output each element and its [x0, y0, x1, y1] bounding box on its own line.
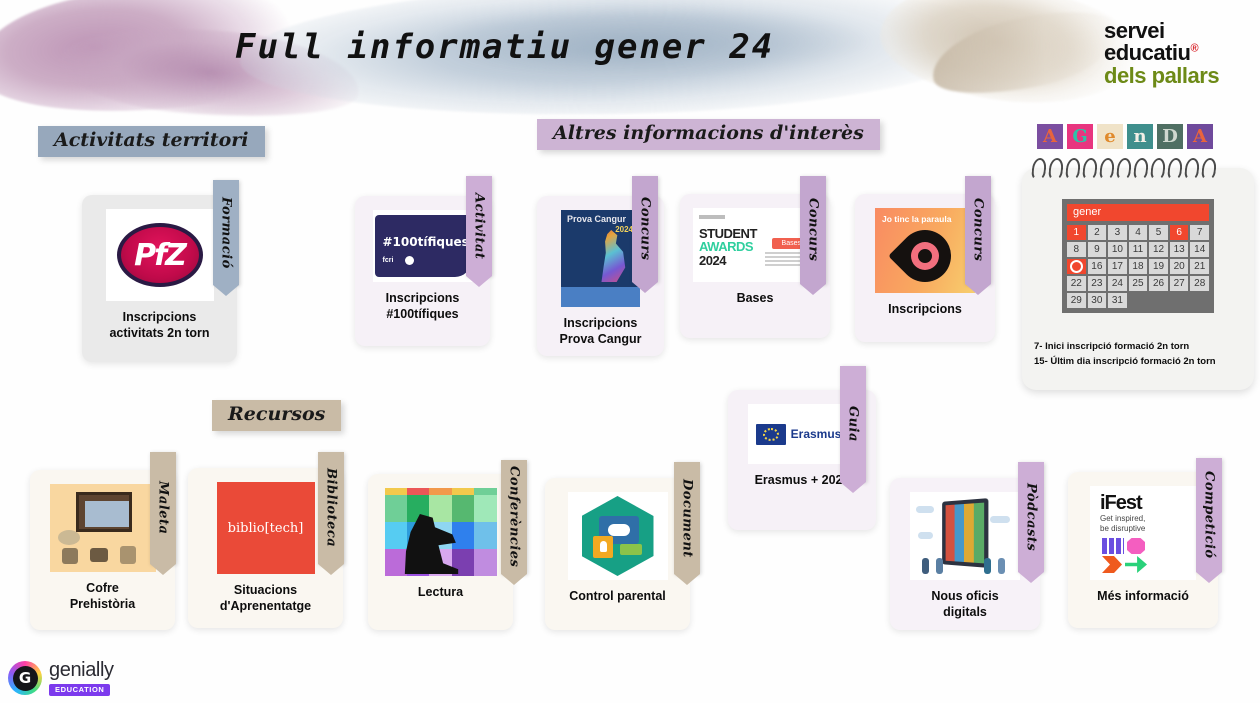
calendar-day-21[interactable]: 21	[1190, 259, 1209, 274]
calendar-day-19[interactable]: 19	[1149, 259, 1168, 274]
calendar-day-27[interactable]: 27	[1170, 276, 1189, 291]
calendar-day-2[interactable]: 2	[1088, 225, 1107, 240]
calendar-month-label: gener	[1067, 204, 1209, 221]
ribbon-maleta[interactable]: Maleta	[150, 452, 176, 564]
agenda-letter-3: n	[1127, 124, 1153, 149]
ribbon-competicio[interactable]: Competició	[1196, 458, 1222, 572]
card-caption: Lectura	[412, 585, 469, 601]
ribbon-guia[interactable]: Guia	[840, 366, 866, 482]
calendar-blank-cell	[1190, 293, 1209, 308]
calendar-day-9[interactable]: 9	[1088, 242, 1107, 257]
agenda-letter-0: A	[1037, 124, 1063, 149]
calendar-day-29[interactable]: 29	[1067, 293, 1086, 308]
calendar-day-11[interactable]: 11	[1129, 242, 1148, 257]
calendar-day-13[interactable]: 13	[1170, 242, 1189, 257]
thumb-cofre-prehistoria	[50, 484, 156, 572]
calendar-blank-cell	[1149, 293, 1168, 308]
card-caption: Nous oficis digitals	[925, 589, 1004, 620]
thumb-reading-illustration	[385, 488, 497, 576]
calendar-day-6[interactable]: 6	[1170, 225, 1189, 240]
poster-title-100tifiques: #100tífiques	[383, 235, 469, 249]
calendar-day-25[interactable]: 25	[1129, 276, 1148, 291]
calendar-day-12[interactable]: 12	[1149, 242, 1168, 257]
spiral-ring	[1082, 158, 1098, 180]
thumb-pfz-logo: PfZ	[106, 209, 214, 301]
infographic-canvas: Full informatiu gener 24 servei educatiu…	[0, 0, 1260, 703]
agenda-letters: AGenDA	[1037, 124, 1213, 149]
calendar-spiral-binding	[1032, 158, 1216, 180]
pfz-text: PfZ	[134, 238, 185, 273]
eu-flag-icon	[756, 424, 786, 445]
page-title: Full informatiu gener 24	[235, 27, 774, 67]
registered-mark: ®	[1190, 43, 1198, 55]
thumb-jo-tinc-la-paraula: Jo tinc la paraula	[875, 208, 975, 293]
calendar-note-2: 15- Últim dia inscripció formació 2n tor…	[1034, 355, 1249, 370]
spiral-ring	[1184, 158, 1200, 180]
calendar-day-10[interactable]: 10	[1108, 242, 1127, 257]
brand-line-3: dels pallars	[1104, 65, 1219, 87]
calendar-day-1[interactable]: 1	[1067, 225, 1086, 240]
card-control-parental[interactable]: Control parental	[545, 478, 690, 630]
card-caption: Bases	[731, 291, 780, 307]
card-caption: Cofre Prehistòria	[64, 581, 141, 612]
calendar-day-26[interactable]: 26	[1149, 276, 1168, 291]
ribbon-label: Concurs	[971, 198, 986, 262]
calendar-grid-container: gener 1234567891011121314151617181920212…	[1062, 199, 1214, 313]
ribbon-conferencies[interactable]: Conferències	[501, 460, 527, 574]
calendar-day-7[interactable]: 7	[1190, 225, 1209, 240]
ribbon-document[interactable]: Document	[674, 462, 700, 574]
calendar-note-1: 7- Inici inscripció formació 2n torn	[1034, 340, 1249, 355]
thumb-prova-cangur-poster: Prova Cangur 2024	[561, 210, 640, 307]
ribbon-label: Maleta	[156, 481, 171, 534]
location-pin-icon	[888, 219, 962, 293]
agenda-letter-5: A	[1187, 124, 1213, 149]
card-caption: Més informació	[1091, 589, 1195, 605]
thumb-student-awards: STUDENT AWARDS 2024 Bases	[693, 208, 817, 282]
ribbon-label: Concurs	[806, 198, 821, 262]
card-caption: Situacions d'Aprenentatge	[214, 583, 317, 614]
calendar-blank-cell	[1170, 293, 1189, 308]
calendar-notes: 7- Inici inscripció formació 2n torn 15-…	[1034, 340, 1249, 369]
thumb-ifest-logo: iFest Get inspired, be disruptive	[1090, 486, 1196, 580]
calendar-day-16[interactable]: 16	[1088, 259, 1107, 274]
ribbon-activitat[interactable]: Activitat	[466, 176, 492, 276]
calendar-day-28[interactable]: 28	[1190, 276, 1209, 291]
calendar-day-grid[interactable]: 1234567891011121314151617181920212223242…	[1067, 225, 1209, 308]
card-caption: Control parental	[563, 589, 672, 605]
thumb-parental-control-icon	[568, 492, 668, 580]
spiral-ring	[1031, 158, 1047, 180]
calendar-day-5[interactable]: 5	[1149, 225, 1168, 240]
watercolor-tan-brush-2	[925, 0, 1125, 107]
spiral-ring	[1150, 158, 1166, 180]
ribbon-label: Document	[680, 479, 695, 558]
ribbon-label: Guia	[846, 406, 861, 442]
ribbon-concurs-bases[interactable]: Concurs	[800, 176, 826, 284]
card-lectura[interactable]: Lectura	[368, 474, 513, 630]
agenda-letter-4: D	[1157, 124, 1183, 149]
brand-line-1: servei	[1104, 20, 1219, 42]
student-awards-line-3: 2024	[699, 253, 726, 268]
ribbon-label: Formació	[219, 197, 234, 269]
spiral-ring	[1201, 158, 1217, 180]
agenda-letter-2: e	[1097, 124, 1123, 149]
poster-year-cangur: 2024	[615, 225, 633, 234]
poster-title-cangur: Prova Cangur	[567, 214, 626, 224]
section-header-activitats: Activitats territori	[38, 126, 265, 157]
spiral-ring	[1099, 158, 1115, 180]
calendar-day-22[interactable]: 22	[1067, 276, 1086, 291]
tablet-icon	[942, 498, 988, 568]
ifest-tagline: Get inspired, be disruptive	[1100, 514, 1145, 534]
calendar-day-3[interactable]: 3	[1108, 225, 1127, 240]
card-caption: Inscripcions	[882, 302, 968, 318]
ribbon-label: Concurs	[638, 197, 653, 261]
poster-fcri-label: fcri	[383, 257, 394, 264]
ribbon-biblioteca[interactable]: Biblioteca	[318, 452, 344, 564]
ribbon-formacio[interactable]: Formació	[213, 180, 239, 285]
spiral-ring	[1133, 158, 1149, 180]
calendar-day-14[interactable]: 14	[1190, 242, 1209, 257]
spiral-ring	[1048, 158, 1064, 180]
genially-education-tag: EDUCATION	[49, 684, 110, 696]
section-header-altres: Altres informacions d'interès	[537, 119, 880, 150]
genially-logo-icon: G	[8, 661, 42, 695]
ribbon-concurs-paraula[interactable]: Concurs	[965, 176, 991, 284]
calendar-day-31[interactable]: 31	[1108, 293, 1127, 308]
genially-name: genially	[49, 660, 114, 680]
servei-educatiu-logo: servei educatiu® dels pallars	[1104, 20, 1219, 87]
ribbon-label: Conferències	[507, 466, 522, 567]
spiral-ring	[1116, 158, 1132, 180]
card-caption: Inscripcions activitats 2n torn	[103, 310, 215, 341]
genially-badge[interactable]: G genially EDUCATION	[8, 660, 114, 696]
spiral-ring	[1167, 158, 1183, 180]
bibliotech-text: biblio[tech]	[228, 521, 304, 536]
calendar-day-24[interactable]: 24	[1108, 276, 1127, 291]
ifest-name: iFest	[1100, 492, 1142, 515]
thumb-digital-jobs-illustration	[910, 492, 1020, 580]
agenda-letter-1: G	[1067, 124, 1093, 149]
ribbon-label: Competició	[1202, 471, 1217, 559]
calendar-day-23[interactable]: 23	[1088, 276, 1107, 291]
poster-title-paraula: Jo tinc la paraula	[882, 214, 951, 224]
ribbon-concurs-cangur[interactable]: Concurs	[632, 176, 658, 282]
ribbon-label: Pòdcasts	[1024, 483, 1039, 551]
calendar-day-15[interactable]: 15	[1067, 259, 1086, 274]
card-caption: Inscripcions #100tífiques	[380, 291, 466, 322]
thumb-bibliotech-logo: biblio[tech]	[217, 482, 315, 574]
ribbon-label: Activitat	[472, 193, 487, 259]
calendar-day-18[interactable]: 18	[1129, 259, 1148, 274]
card-caption: Inscripcions Prova Cangur	[554, 316, 648, 347]
student-awards-line-2: AWARDS	[699, 239, 753, 254]
calendar-day-17[interactable]: 17	[1108, 259, 1127, 274]
calendar-day-8[interactable]: 8	[1067, 242, 1086, 257]
calendar-day-30[interactable]: 30	[1088, 293, 1107, 308]
ribbon-label: Biblioteca	[324, 468, 339, 547]
brand-line-2: educatiu®	[1104, 42, 1219, 64]
spiral-ring	[1065, 158, 1081, 180]
calendar-day-4[interactable]: 4	[1129, 225, 1148, 240]
section-header-recursos: Recursos	[212, 400, 341, 431]
calendar-blank-cell	[1129, 293, 1148, 308]
ribbon-podcasts[interactable]: Pòdcasts	[1018, 462, 1044, 572]
thumb-100tifiques-poster: #100tífiques fcri	[373, 210, 473, 282]
kangaroo-icon	[595, 230, 631, 282]
calendar-day-20[interactable]: 20	[1170, 259, 1189, 274]
